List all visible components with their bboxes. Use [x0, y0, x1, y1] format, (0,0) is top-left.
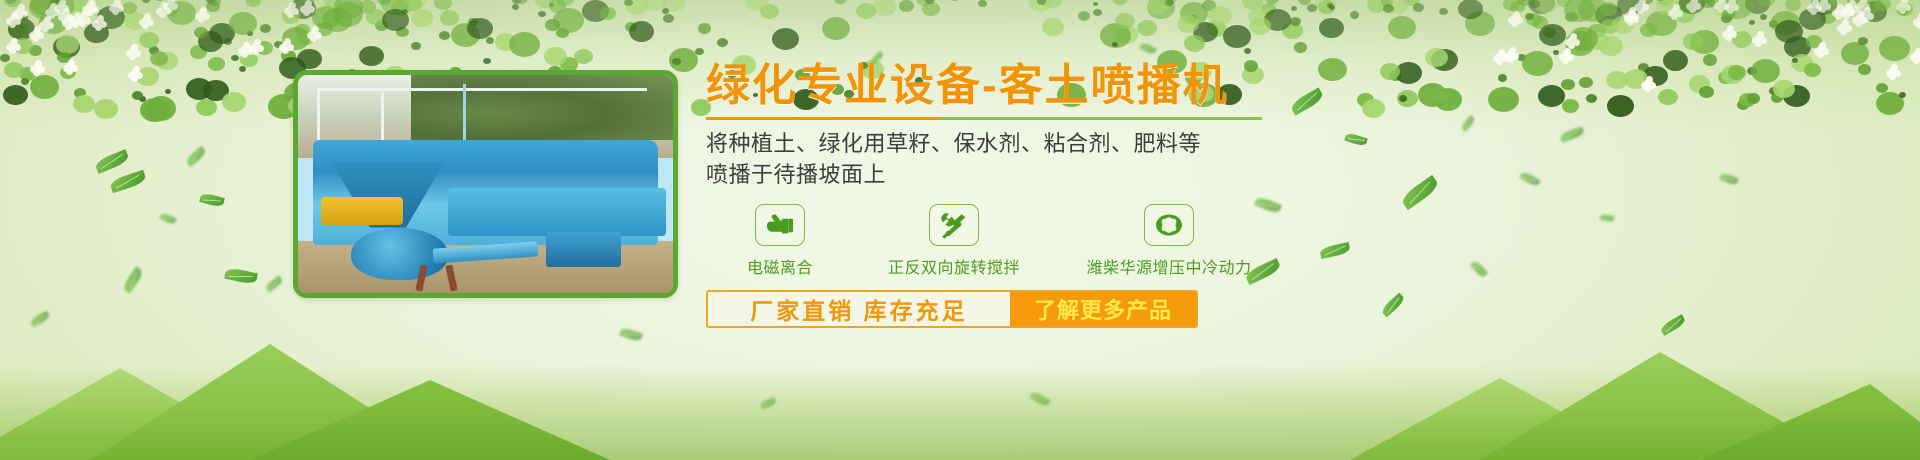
foliage-blob	[1553, 50, 1559, 55]
foliage-blob	[549, 0, 566, 13]
foliage-blob	[1785, 0, 1801, 11]
white-flower	[1862, 10, 1871, 19]
foliage-blob	[1642, 0, 1653, 4]
photo-railing-post-left	[317, 88, 320, 145]
foliage-blob	[556, 28, 569, 38]
product-photo-frame[interactable]	[293, 70, 678, 298]
foliage-blob	[1458, 0, 1483, 19]
foliage-blob	[1595, 4, 1622, 26]
foliage-blob	[149, 46, 159, 55]
foliage-blob	[1657, 0, 1673, 6]
white-flower	[42, 19, 51, 28]
foliage-blob	[1569, 27, 1598, 51]
foliage-blob	[281, 50, 296, 62]
foliage-blob	[1465, 11, 1495, 36]
photo-yellow-engine	[321, 197, 404, 225]
foliage-blob	[30, 0, 56, 15]
foliage-blob	[439, 31, 450, 40]
foliage-blob	[132, 91, 143, 100]
foliage-blob	[312, 6, 340, 29]
foliage-blob	[1249, 17, 1271, 35]
foliage-blob	[1721, 14, 1732, 23]
white-flower	[1858, 0, 1867, 9]
grass-band	[0, 364, 1920, 460]
foliage-blob	[1205, 24, 1216, 33]
white-flower	[1725, 28, 1734, 37]
white-flower	[1913, 51, 1920, 60]
foliage-blob	[600, 7, 616, 20]
white-flower	[129, 47, 138, 56]
foliage-blob	[49, 0, 75, 16]
foliage-blob	[760, 4, 779, 19]
foliage-blob	[1811, 0, 1837, 15]
white-flower	[87, 3, 96, 12]
foliage-blob	[203, 80, 229, 101]
foliage-blob	[1367, 0, 1387, 13]
photo-trees	[411, 75, 674, 140]
foliage-blob	[206, 1, 220, 12]
foliage-blob	[1874, 0, 1891, 11]
foliage-blob	[1749, 20, 1755, 25]
foliage-blob	[295, 24, 310, 36]
foliage-blob	[161, 1, 179, 16]
foliage-blob	[1137, 20, 1157, 36]
cta-bar: 厂家直销 库存充足 了解更多产品	[706, 290, 1198, 328]
foliage-blob	[1223, 25, 1251, 48]
foliage-blob	[582, 0, 609, 22]
feature-list: 电磁离合 正反双向旋转搅拌	[706, 204, 1766, 278]
foliage-blob	[669, 48, 698, 72]
foliage-blob	[574, 49, 593, 64]
foliage-blob	[13, 38, 33, 54]
foliage-blob	[186, 78, 212, 100]
white-flower	[1855, 14, 1864, 23]
foliage-blob	[1771, 93, 1783, 103]
white-flower	[1562, 51, 1571, 60]
foliage-blob	[629, 21, 654, 42]
white-flower	[1727, 1, 1736, 10]
foliage-blob	[1318, 0, 1335, 14]
foliage-blob	[556, 0, 574, 6]
wrench-screwdriver-icon	[939, 211, 969, 239]
foliage-blob	[1381, 0, 1393, 7]
white-flower	[1817, 45, 1826, 54]
white-flower	[9, 41, 18, 50]
foliage-blob	[822, 17, 850, 40]
foliage-blob	[1093, 2, 1098, 6]
foliage-blob	[553, 8, 584, 33]
foliage-blob	[873, 0, 896, 16]
foliage-blob	[1600, 2, 1617, 16]
feature-icon-box	[929, 204, 979, 246]
foliage-blob	[1588, 32, 1609, 50]
foliage-blob	[1319, 18, 1344, 38]
white-flower	[1507, 50, 1516, 59]
foliage-blob	[1862, 1, 1887, 22]
foliage-blob	[1690, 30, 1719, 54]
foliage-blob	[509, 32, 540, 57]
foliage-blob	[662, 0, 685, 12]
foliage-blob	[45, 7, 56, 16]
foliage-blob	[1439, 8, 1448, 15]
foliage-blob	[142, 0, 150, 3]
white-flower	[72, 15, 81, 24]
foliage-blob	[1147, 0, 1169, 14]
foliage-blob	[698, 23, 711, 34]
foliage-blob	[1896, 2, 1913, 16]
foliage-blob	[1820, 11, 1836, 24]
page-title: 绿化专业设备-客土喷播机	[706, 62, 1766, 110]
foliage-blob	[1655, 0, 1666, 1]
foliage-blob	[1564, 0, 1595, 22]
foliage-blob	[56, 35, 79, 54]
foliage-blob	[297, 49, 322, 69]
foliage-blob	[50, 0, 65, 4]
promo-banner: 绿化专业设备-客土喷播机 将种植土、绿化用草籽、保水剂、粘合剂、肥料等 喷播于待…	[0, 0, 1920, 460]
foliage-blob	[11, 22, 29, 37]
foliage-blob	[1858, 64, 1871, 75]
foliage-blob	[549, 3, 554, 7]
foliage-blob	[377, 0, 391, 5]
foliage-blob	[196, 99, 217, 116]
foliage-blob	[978, 0, 987, 7]
foliage-blob	[1517, 54, 1526, 61]
foliage-blob	[483, 58, 491, 64]
foliage-blob	[625, 0, 648, 15]
foliage-blob	[1578, 0, 1608, 22]
foliage-blob	[1792, 58, 1798, 63]
foliage-blob	[1714, 0, 1738, 17]
foliage-blob	[396, 27, 409, 37]
foliage-blob	[1898, 7, 1908, 15]
foliage-blob	[29, 45, 42, 56]
leaf-shape	[1139, 42, 1156, 55]
leaf-shape	[185, 146, 208, 167]
foliage-blob	[256, 41, 273, 55]
foliage-blob	[22, 15, 28, 20]
white-flower	[61, 11, 70, 20]
foliage-blob	[136, 67, 159, 86]
foliage-blob	[1876, 83, 1888, 93]
white-flower	[1717, 0, 1726, 9]
foliage-blob	[512, 0, 521, 4]
foliage-blob	[1656, 0, 1679, 16]
foliage-blob	[1769, 87, 1779, 95]
foliage-blob	[624, 0, 633, 6]
white-flower	[241, 45, 250, 54]
leaf-shape	[159, 212, 176, 225]
photo-blue-tank-lower	[448, 188, 666, 236]
foliage-blob	[772, 28, 799, 50]
foliage-blob	[155, 0, 164, 1]
foliage-blob	[334, 0, 363, 19]
white-flower	[1840, 22, 1849, 31]
white-flower	[1847, 3, 1856, 12]
foliage-blob	[1853, 0, 1881, 16]
foliage-blob	[1600, 19, 1619, 34]
foliage-blob	[209, 23, 235, 44]
foliage-blob	[240, 52, 258, 67]
foliage-blob	[8, 18, 35, 40]
white-flower	[1843, 6, 1852, 15]
white-flower	[142, 16, 151, 25]
foliage-blob	[156, 52, 178, 70]
foliage-blob	[1679, 0, 1705, 14]
foliage-blob	[662, 8, 669, 14]
foliage-blob	[1612, 16, 1634, 34]
foliage-blob	[282, 27, 310, 50]
foliage-blob	[124, 12, 146, 30]
foliage-blob	[381, 0, 409, 15]
foliage-blob	[695, 48, 704, 55]
foliage-blob	[1858, 37, 1868, 45]
foliage-blob	[1773, 80, 1795, 98]
foliage-blob	[29, 0, 52, 14]
foliage-blob	[97, 6, 125, 29]
feature-icon-box	[1144, 204, 1194, 246]
white-flower	[85, 3, 94, 12]
foliage-blob	[1899, 92, 1906, 98]
foliage-blob	[1701, 0, 1715, 8]
foliage-blob	[290, 0, 316, 19]
foliage-blob	[1876, 92, 1904, 115]
foliage-blob	[468, 18, 478, 26]
white-flower	[112, 2, 121, 11]
leaf-shape	[109, 170, 147, 193]
foliage-blob	[922, 2, 940, 16]
foliage-blob	[643, 0, 666, 11]
foliage-blob	[663, 14, 674, 23]
foliage-blob	[222, 92, 246, 112]
feature-label: 潍柴华源增压中冷动力	[1086, 254, 1251, 278]
foliage-blob	[198, 31, 223, 52]
title-divider	[706, 117, 1262, 120]
foliage-blob	[1042, 0, 1062, 8]
foliage-blob	[194, 27, 208, 38]
foliage-blob	[8, 23, 26, 38]
foliage-blob	[247, 31, 253, 36]
foliage-blob	[1534, 0, 1558, 13]
foliage-blob	[1207, 21, 1227, 37]
foliage-blob	[73, 95, 95, 113]
foliage-blob	[495, 33, 516, 51]
white-flower	[287, 5, 296, 14]
foliage-blob	[74, 88, 86, 98]
foliage-blob	[1791, 54, 1813, 72]
foliage-blob	[1264, 9, 1291, 31]
foliage-blob	[1180, 2, 1208, 25]
foliage-blob	[1510, 1, 1525, 13]
foliage-blob	[167, 1, 196, 25]
foliage-blob	[1525, 13, 1534, 20]
foliage-blob	[1329, 5, 1335, 10]
foliage-blob	[73, 0, 93, 12]
foliage-blob	[359, 46, 384, 66]
foliage-blob	[1683, 33, 1703, 50]
foliage-blob	[1242, 0, 1263, 10]
foliage-blob	[1177, 15, 1199, 33]
foliage-blob	[190, 45, 207, 59]
foliage-blob	[440, 10, 459, 26]
foliage-blob	[1528, 0, 1555, 14]
foliage-blob	[1202, 0, 1216, 11]
foliage-blob	[316, 22, 333, 36]
white-flower	[252, 42, 261, 51]
foliage-blob	[1029, 0, 1052, 12]
foliage-blob	[302, 0, 314, 6]
foliage-blob	[1775, 20, 1803, 43]
white-flower	[9, 15, 18, 24]
foliage-blob	[925, 0, 935, 4]
foliage-blob	[291, 0, 302, 1]
white-flower	[131, 69, 140, 78]
white-flower	[303, 3, 312, 12]
foliage-blob	[404, 0, 426, 10]
foliage-blob	[1716, 2, 1729, 13]
foliage-blob	[1100, 23, 1131, 48]
foliage-blob	[1847, 0, 1860, 6]
foliage-blob	[1557, 0, 1572, 7]
foliage-blob	[1565, 31, 1595, 56]
foliage-blob	[1147, 0, 1175, 19]
foliage-blob	[486, 37, 494, 44]
foliage-blob	[1078, 11, 1090, 21]
feature-item-clutch[interactable]: 电磁离合	[706, 204, 854, 278]
foliage-blob	[1248, 7, 1271, 26]
foliage-blob	[1093, 9, 1102, 16]
foliage-blob	[323, 0, 342, 8]
foliage-blob	[1042, 18, 1064, 36]
feature-item-engine[interactable]: 潍柴华源增压中冷动力	[1054, 204, 1284, 278]
foliage-blob	[53, 36, 80, 58]
foliage-blob	[1539, 24, 1566, 46]
foliage-blob	[1115, 13, 1135, 29]
foliage-blob	[84, 23, 109, 43]
foliage-blob	[224, 38, 232, 45]
white-flower	[33, 63, 42, 72]
foliage-blob	[1188, 15, 1197, 22]
foliage-blob	[359, 0, 376, 14]
foliage-blob	[1165, 0, 1174, 6]
foliage-blob	[514, 0, 528, 4]
foliage-blob	[1532, 16, 1548, 29]
white-flower	[1568, 36, 1577, 45]
foliage-blob	[1115, 25, 1138, 44]
cta-slogan: 厂家直销 库存充足	[708, 292, 1010, 326]
foliage-blob	[1769, 20, 1778, 28]
foliage-blob	[150, 51, 168, 66]
hand-clutch-icon	[765, 212, 795, 238]
foliage-blob	[1261, 3, 1276, 15]
white-flower	[1496, 52, 1505, 61]
subtitle-block: 将种植土、绿化用草籽、保水剂、粘合剂、肥料等 喷播于待播坡面上	[706, 128, 1766, 190]
foliage-blob	[1841, 42, 1869, 65]
white-flower	[48, 6, 57, 15]
foliage-blob	[1722, 0, 1753, 19]
foliage-blob	[282, 9, 300, 24]
foliage-blob	[834, 0, 847, 4]
white-flower	[32, 29, 41, 38]
foliage-blob	[1879, 36, 1910, 61]
foliage-blob	[512, 4, 519, 10]
foliage-blob	[297, 30, 315, 45]
foliage-blob	[366, 9, 386, 25]
foliage-blob	[205, 0, 216, 3]
foliage-blob	[545, 19, 560, 31]
foliage-blob	[1676, 0, 1694, 13]
subtitle-line-2: 喷播于待播坡面上	[706, 159, 1766, 190]
foliage-blob	[1387, 0, 1408, 14]
foliage-blob	[208, 57, 225, 71]
white-flower	[1889, 67, 1898, 76]
foliage-blob	[717, 38, 728, 47]
photo-railing-top	[317, 88, 647, 91]
foliage-blob	[411, 9, 433, 27]
foliage-blob	[3, 85, 28, 105]
foliage-blob	[1244, 48, 1251, 54]
white-flower	[66, 62, 75, 71]
white-flower	[310, 29, 319, 38]
foliage-blob	[391, 0, 412, 16]
white-flower	[1819, 0, 1828, 9]
foliage-blob	[1820, 0, 1836, 8]
learn-more-button[interactable]: 了解更多产品	[1010, 292, 1196, 326]
photo-railing-post-right	[463, 84, 466, 145]
foliage-blob	[1282, 22, 1303, 39]
foliage-blob	[58, 0, 82, 19]
foliage-blob	[856, 3, 876, 19]
foliage-blob	[402, 9, 408, 14]
foliage-blob	[1307, 4, 1317, 12]
foliage-blob	[404, 0, 422, 11]
foliage-blob	[1503, 0, 1520, 11]
foliage-blob	[1037, 0, 1046, 5]
foliage-blob	[21, 78, 29, 85]
foliage-blob	[949, 0, 960, 1]
foliage-blob	[50, 0, 65, 5]
foliage-blob	[1799, 8, 1826, 30]
foliage-blob	[1388, 16, 1416, 39]
foliage-blob	[1112, 0, 1128, 5]
foliage-blob	[4, 0, 21, 7]
banner-content: 绿化专业设备-客土喷播机 将种植土、绿化用草籽、保水剂、粘合剂、肥料等 喷播于待…	[706, 62, 1766, 328]
white-flower	[95, 18, 104, 27]
foliage-blob	[1700, 0, 1714, 3]
foliage-blob	[322, 8, 352, 32]
foliage-blob	[57, 52, 71, 63]
leaf-shape	[199, 192, 225, 208]
foliage-blob	[1543, 27, 1556, 38]
foliage-blob	[1617, 0, 1643, 16]
foliage-blob	[1315, 0, 1337, 10]
foliage-blob	[1290, 17, 1301, 26]
foliage-blob	[434, 0, 452, 10]
foliage-blob	[1715, 0, 1738, 13]
foliage-blob	[229, 12, 257, 35]
foliage-blob	[1784, 36, 1811, 58]
foliage-blob	[411, 42, 421, 50]
subtitle-line-1: 将种植土、绿化用草籽、保水剂、粘合剂、肥料等	[706, 128, 1766, 159]
foliage-blob	[1193, 22, 1218, 42]
foliage-blob	[1265, 0, 1279, 4]
foliage-blob	[94, 99, 118, 119]
photo-control-box	[546, 232, 621, 267]
foliage-blob	[1383, 4, 1394, 13]
foliage-blob	[1112, 42, 1118, 47]
white-flower	[1810, 2, 1819, 11]
foliage-blob	[146, 96, 176, 121]
feature-item-mixing[interactable]: 正反双向旋转搅拌	[854, 204, 1054, 278]
